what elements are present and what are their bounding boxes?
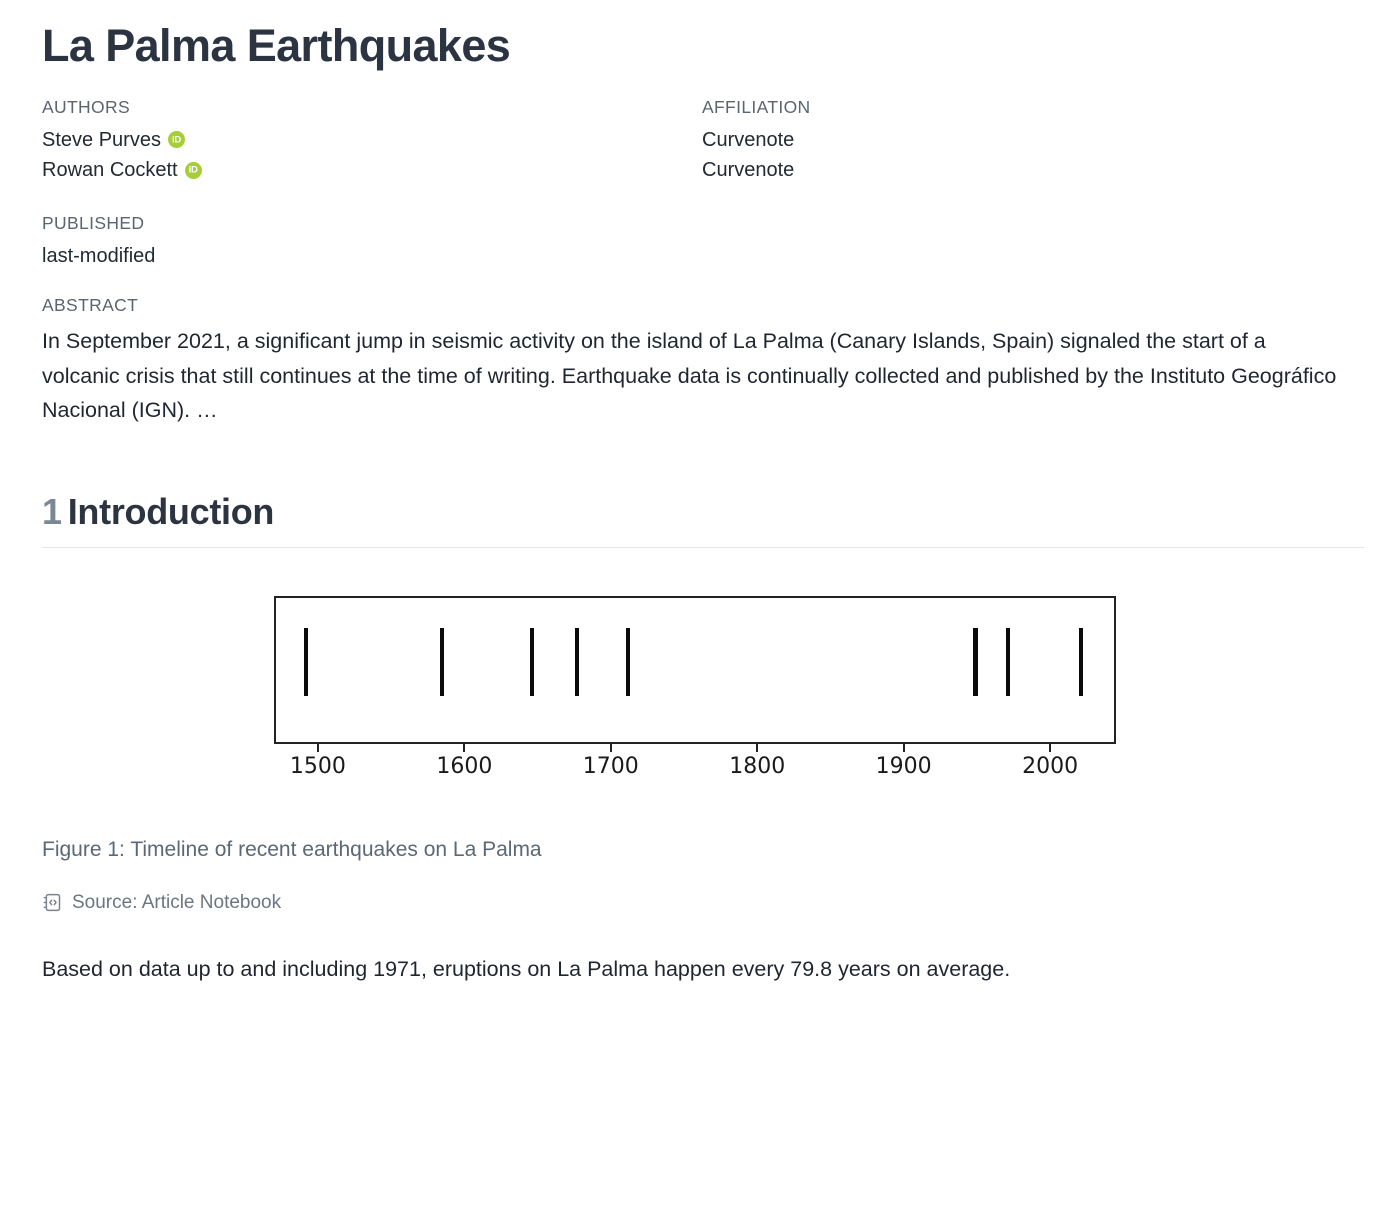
page-title: La Palma Earthquakes [42, 22, 1342, 71]
timeline-event-bar [575, 628, 579, 696]
affiliation-label: AFFILIATION [702, 97, 1342, 118]
spacer [42, 273, 1342, 295]
figure-source-label: Source: Article Notebook [72, 892, 281, 914]
author-entry: Rowan Cockett [42, 156, 702, 184]
x-axis-tick-label: 2000 [1022, 754, 1078, 779]
section-number: 1 [42, 491, 62, 532]
section-heading-introduction: 1Introduction [42, 491, 1364, 548]
timeline-event-bar [973, 628, 977, 696]
timeline-event-bar [530, 628, 534, 696]
published-value: last-modified [42, 242, 1342, 270]
x-axis-tick [463, 744, 465, 752]
author-entry: Steve Purves [42, 126, 702, 154]
figure-caption: Figure 1: Timeline of recent earthquakes… [42, 835, 1342, 865]
x-axis-tick [317, 744, 319, 752]
authors-label: AUTHORS [42, 97, 702, 118]
article-page: La Palma Earthquakes AUTHORS Steve Purve… [0, 0, 1382, 987]
abstract-label: ABSTRACT [42, 295, 1342, 316]
orcid-icon[interactable] [168, 131, 185, 148]
orcid-icon[interactable] [185, 162, 202, 179]
abstract-block: ABSTRACT In September 2021, a significan… [42, 295, 1342, 428]
author-name: Rowan Cockett [42, 156, 178, 184]
timeline-event-bar [304, 628, 308, 696]
affiliation-block: AFFILIATION Curvenote Curvenote [702, 97, 1342, 187]
plot-frame [274, 596, 1116, 744]
spacer [42, 186, 1342, 213]
timeline-event-bar [1006, 628, 1010, 696]
published-block: PUBLISHED last-modified [42, 213, 1342, 270]
x-axis-tick [610, 744, 612, 752]
timeline-event-bar [626, 628, 630, 696]
figure-source[interactable]: Source: Article Notebook [42, 892, 1342, 914]
x-axis-tick [1049, 744, 1051, 752]
x-axis-tick-label: 1700 [583, 754, 639, 779]
published-label: PUBLISHED [42, 213, 1342, 234]
affiliation-value: Curvenote [702, 156, 1342, 184]
timeline-plot: 150016001700180019002000 [266, 586, 1118, 791]
section-title: Introduction [68, 491, 274, 532]
x-axis-tick [756, 744, 758, 752]
x-axis-tick-label: 1900 [876, 754, 932, 779]
figure-1: 150016001700180019002000 [42, 586, 1342, 791]
x-axis-tick-label: 1800 [729, 754, 785, 779]
closing-paragraph: Based on data up to and including 1971, … [42, 952, 1342, 987]
author-name: Steve Purves [42, 126, 161, 154]
abstract-text: In September 2021, a significant jump in… [42, 324, 1342, 428]
x-axis-tick-label: 1600 [436, 754, 492, 779]
notebook-code-icon [42, 892, 63, 913]
timeline-event-bar [440, 628, 444, 696]
x-axis-tick-label: 1500 [290, 754, 346, 779]
affiliation-value: Curvenote [702, 126, 1342, 154]
article-metadata: AUTHORS Steve Purves Rowan Cockett AFFIL… [42, 97, 1342, 187]
timeline-event-bar [1079, 628, 1083, 696]
authors-block: AUTHORS Steve Purves Rowan Cockett [42, 97, 702, 187]
x-axis-tick [903, 744, 905, 752]
